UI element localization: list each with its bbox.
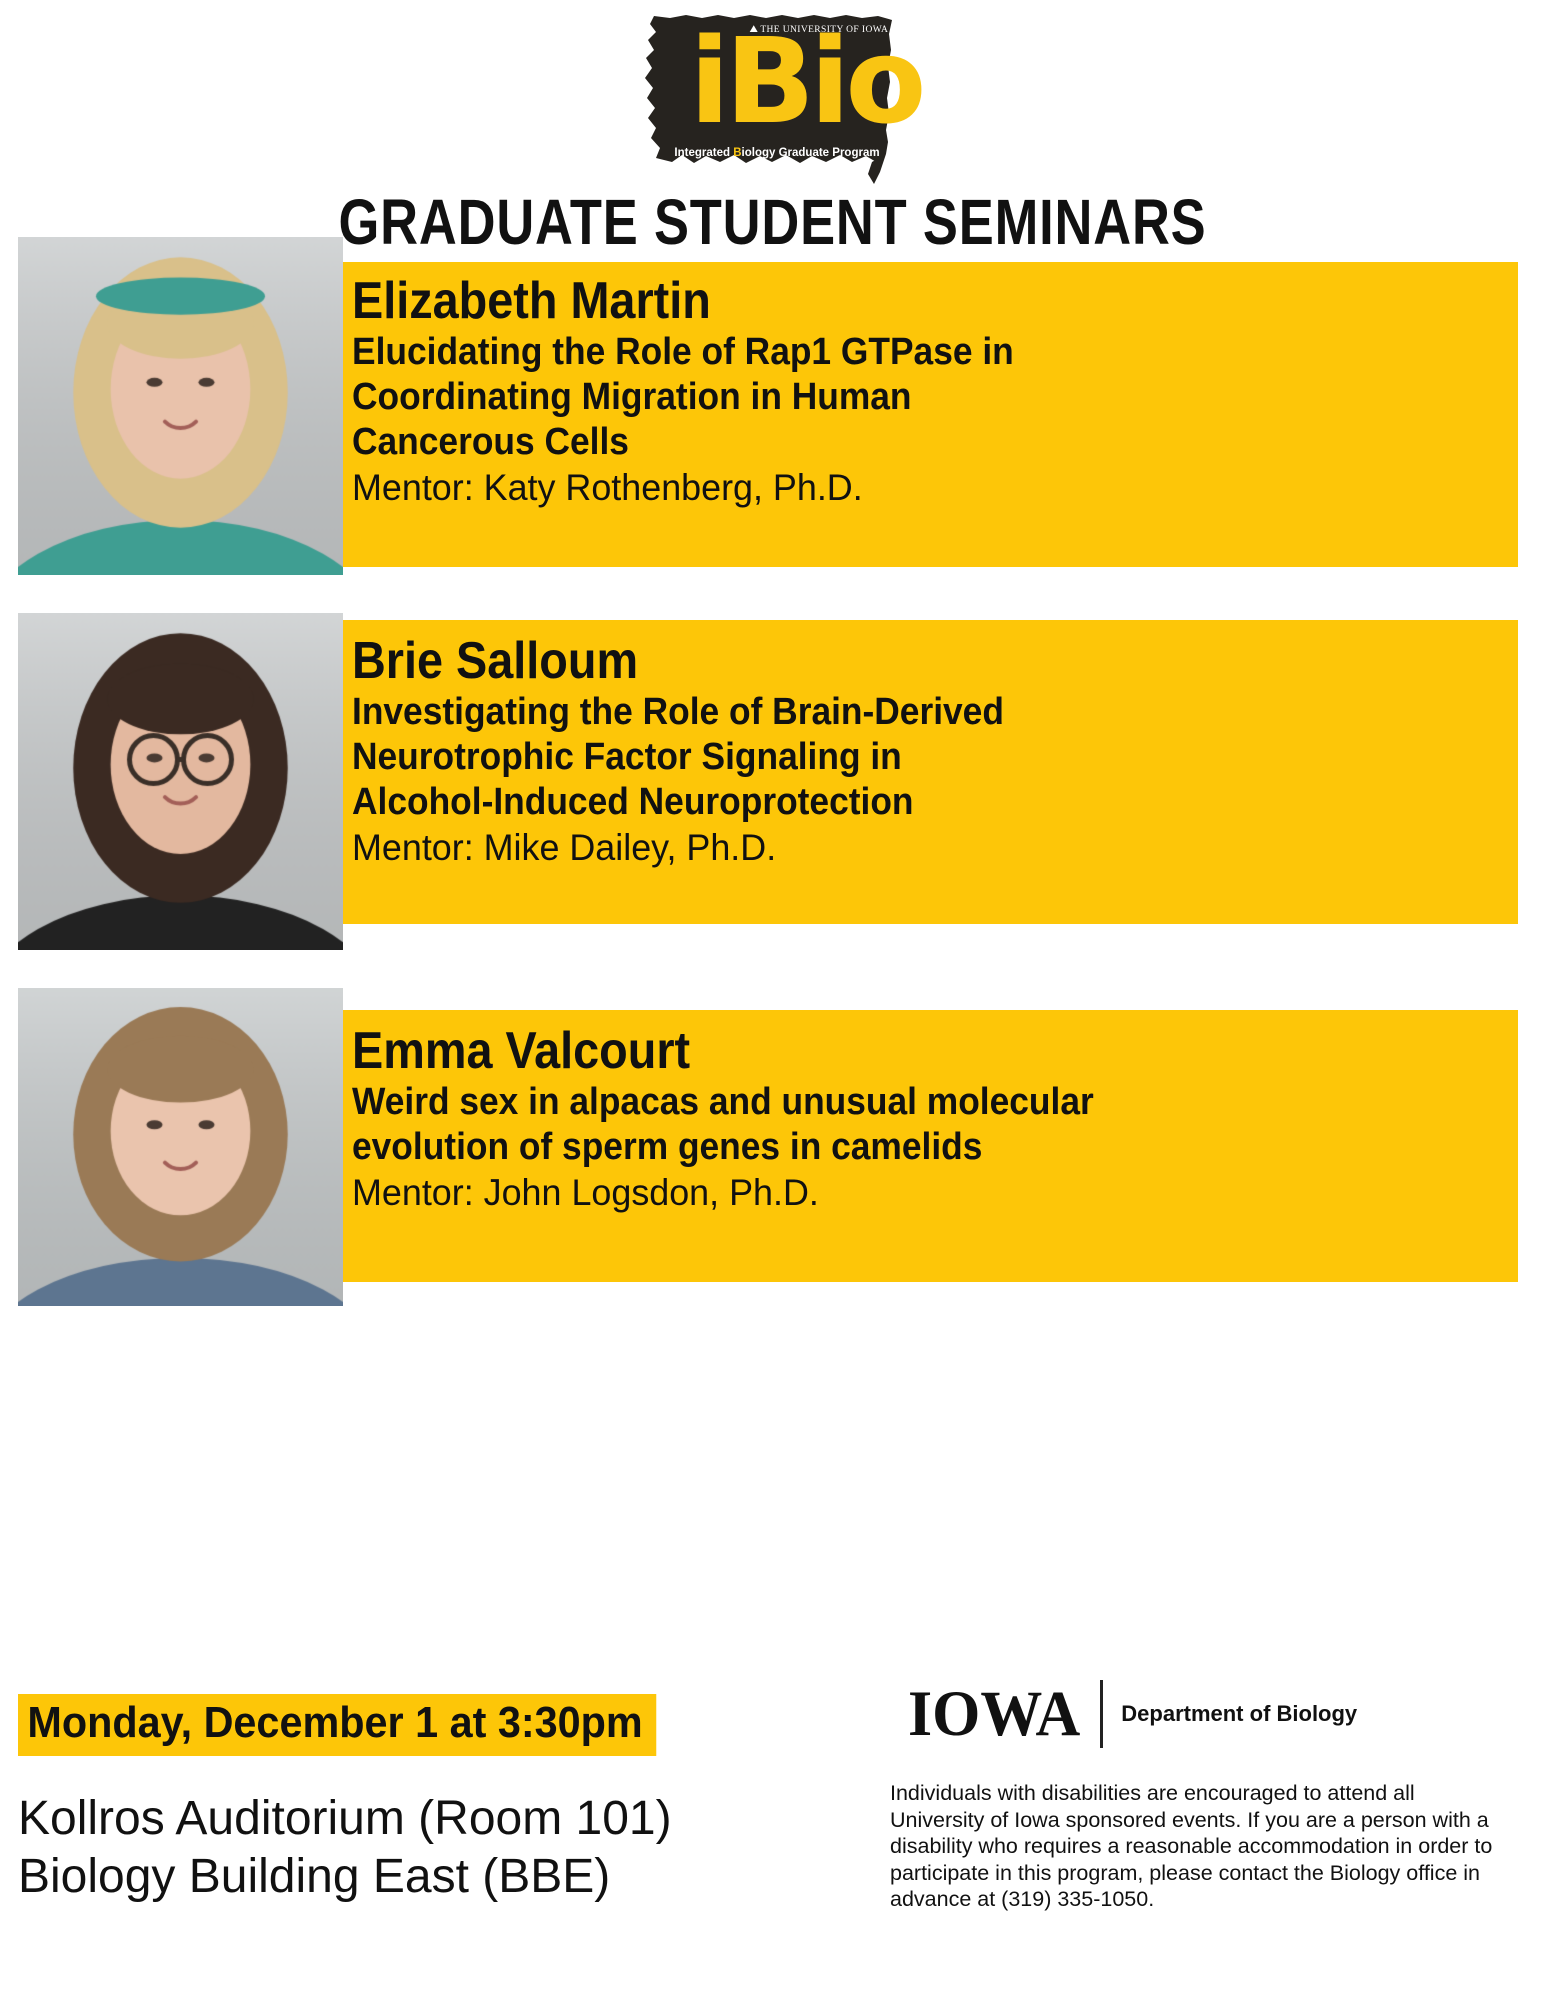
mentor-label: Mentor: John Logsdon, Ph.D.	[352, 1170, 1477, 1215]
venue-line-2: Biology Building East (BBE)	[18, 1848, 918, 1906]
seminar-title-line: Alcohol-Induced Neuroprotection	[352, 780, 1431, 825]
iowa-logo-lockup: IOWA Department of Biology	[908, 1680, 1357, 1748]
ibio-logo: ⛰THE UNIVERSITY OF IOWA iBio Integrated …	[0, 2, 1545, 190]
department-label: Department of Biology	[1121, 1701, 1357, 1727]
divider	[1100, 1680, 1103, 1748]
accessibility-disclaimer: Individuals with disabilities are encour…	[890, 1780, 1515, 1913]
seminar-title-line: Cancerous Cells	[352, 420, 1431, 465]
seminar-text-block: Elizabeth MartinElucidating the Role of …	[352, 272, 1512, 510]
seminar-title-line: Elucidating the Role of Rap1 GTPase in	[352, 330, 1431, 375]
speaker-name: Emma Valcourt	[352, 1022, 1396, 1080]
speaker-name: Elizabeth Martin	[352, 272, 1396, 330]
venue-line-1: Kollros Auditorium (Room 101)	[18, 1790, 918, 1848]
seminar-text-block: Emma ValcourtWeird sex in alpacas and un…	[352, 1022, 1512, 1215]
speaker-headshot	[18, 988, 343, 1306]
iowa-wordmark: IOWA	[908, 1681, 1080, 1746]
ibio-wordmark: iBio	[690, 22, 922, 140]
speaker-name: Brie Salloum	[352, 632, 1396, 690]
ibio-tagline: Integrated Biology Graduate Program	[670, 147, 885, 159]
speaker-headshot	[18, 237, 343, 575]
event-date-badge: Monday, December 1 at 3:30pm	[18, 1694, 656, 1756]
speaker-headshot	[18, 613, 343, 950]
mentor-label: Mentor: Katy Rothenberg, Ph.D.	[352, 465, 1477, 510]
seminar-title-line: Neurotrophic Factor Signaling in	[352, 735, 1431, 780]
mentor-label: Mentor: Mike Dailey, Ph.D.	[352, 825, 1477, 870]
seminar-poster: ⛰THE UNIVERSITY OF IOWA iBio Integrated …	[0, 0, 1545, 2000]
seminar-title-line: Weird sex in alpacas and unusual molecul…	[352, 1080, 1431, 1125]
seminar-title-line: evolution of sperm genes in camelids	[352, 1125, 1431, 1170]
seminar-text-block: Brie SalloumInvestigating the Role of Br…	[352, 632, 1512, 870]
venue-block: Kollros Auditorium (Room 101) Biology Bu…	[18, 1790, 918, 1906]
seminar-title-line: Investigating the Role of Brain-Derived	[352, 690, 1431, 735]
seminar-title-line: Coordinating Migration in Human	[352, 375, 1431, 420]
